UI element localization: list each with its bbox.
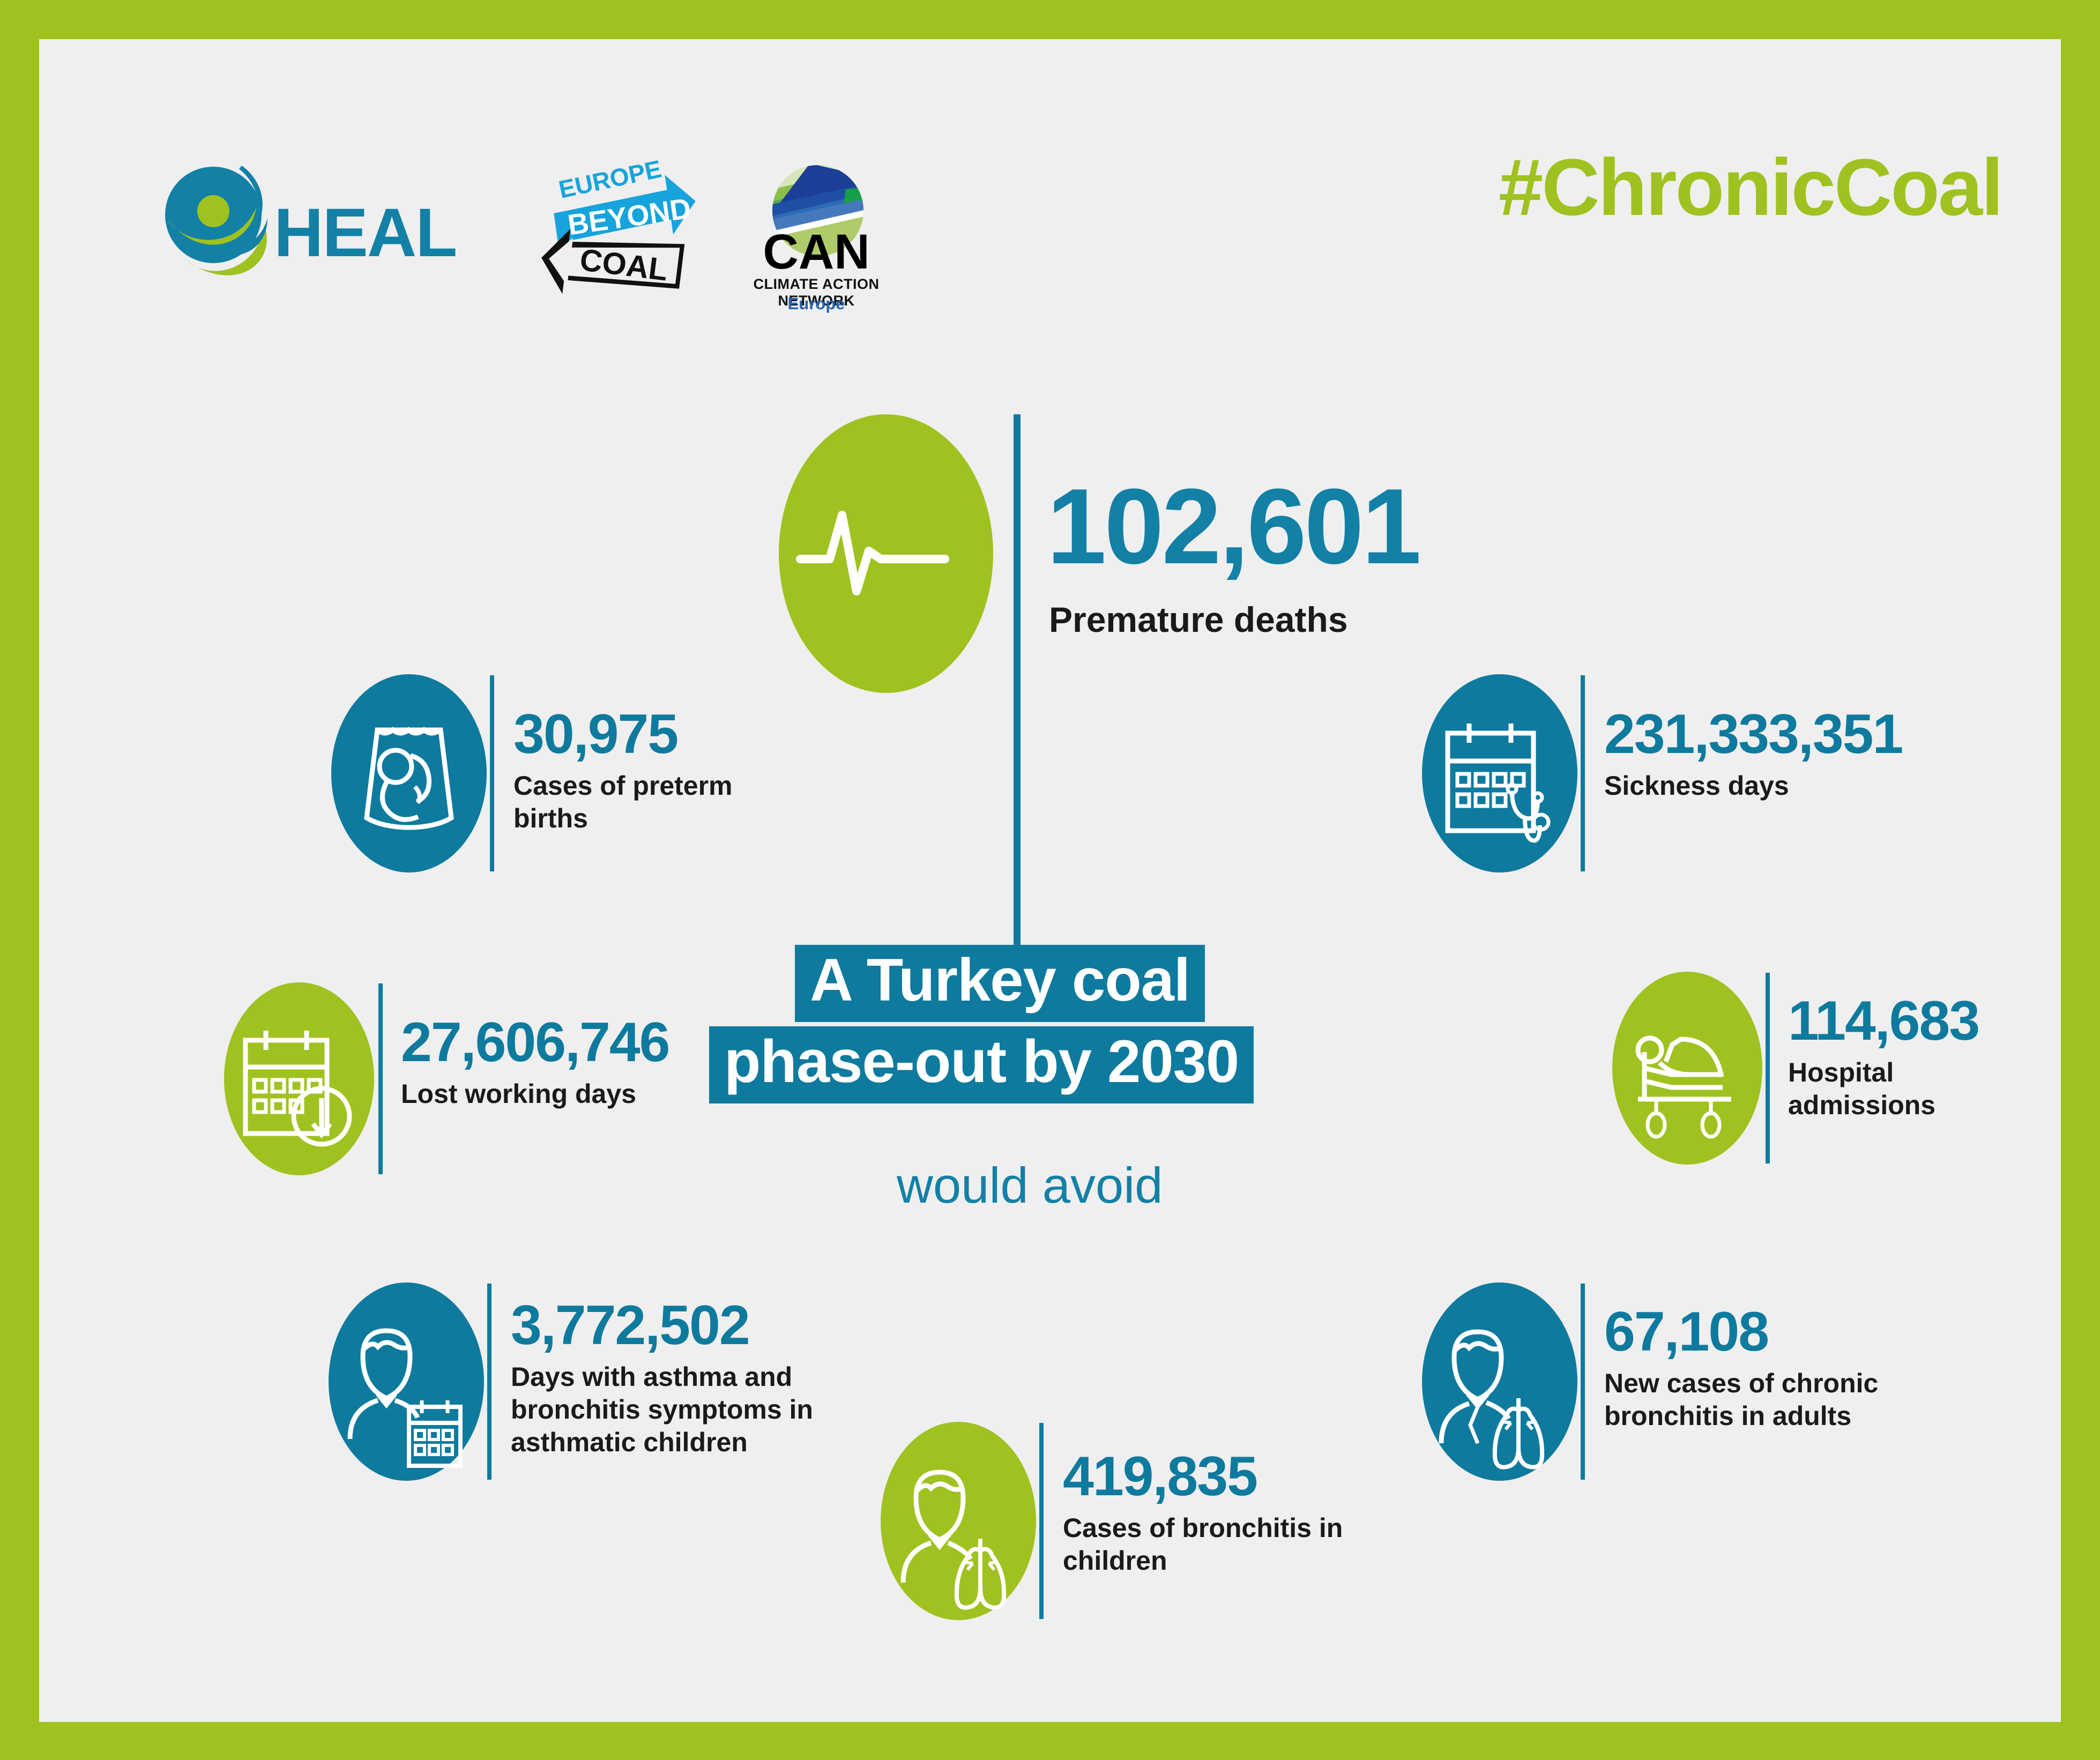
stat-label: Cases of bronchitis in children	[1063, 1512, 1363, 1577]
calendar-down-arrow-icon	[224, 982, 374, 1175]
child-calendar-icon	[329, 1282, 484, 1481]
stat-divider	[1039, 1423, 1044, 1619]
stat-divider	[1581, 675, 1585, 871]
heal-wordmark: HEAL	[274, 193, 456, 272]
stat-divider	[378, 983, 383, 1174]
heal-logo: HEAL	[136, 146, 312, 307]
stat-label: Cases of preterm births	[513, 770, 814, 835]
stat-divider	[490, 675, 494, 871]
stat-divider	[1581, 1284, 1585, 1480]
infographic-canvas: HEAL EUROPE BEYOND COAL	[39, 39, 2061, 1722]
central-spine	[1014, 414, 1021, 958]
banner-line-1: A Turkey coal	[795, 945, 1205, 1022]
hero-blob	[779, 414, 993, 693]
banner-subline: would avoid	[897, 1157, 1163, 1214]
stat-value: 114,683	[1788, 993, 2024, 1049]
stat-value: 419,835	[1063, 1449, 1363, 1504]
ultrasound-icon	[331, 674, 487, 872]
svg-text:CAN: CAN	[763, 225, 869, 279]
stat-value: 3,772,502	[511, 1297, 897, 1353]
stat-label: Days with asthma and bronchitis symptoms…	[511, 1361, 897, 1459]
child-lungs-icon	[881, 1422, 1036, 1620]
logo-row: HEAL EUROPE BEYOND COAL	[136, 146, 312, 307]
heal-mark-icon	[157, 156, 286, 290]
stat-label: Lost working days	[401, 1078, 733, 1110]
stat-blob	[1422, 1282, 1577, 1481]
can-europe-logo: CAN CLIMATE ACTION NETWORK Europe	[731, 152, 902, 312]
stat-value: 67,108	[1604, 1304, 1947, 1360]
stat-divider	[1766, 973, 1770, 1164]
stat-blob	[1422, 674, 1577, 872]
stat-divider	[487, 1284, 492, 1480]
hero-value: 102,601	[1047, 473, 1419, 580]
campaign-hashtag: #ChronicCoal	[1499, 141, 2002, 234]
stat-blob	[329, 1282, 484, 1481]
main-banner: A Turkey coal phase-out by 2030	[736, 945, 1459, 1103]
stat-blob	[1612, 972, 1762, 1165]
stat-value: 231,333,351	[1604, 706, 1969, 762]
europe-beyond-coal-logo: EUROPE BEYOND COAL	[538, 146, 704, 307]
calendar-stethoscope-icon	[1422, 674, 1577, 872]
stat-blob	[331, 674, 487, 872]
stat-label: New cases of chronic bronchitis in adult…	[1604, 1367, 1947, 1433]
banner-line-2: phase-out by 2030	[709, 1026, 1254, 1103]
stat-blob	[224, 982, 374, 1175]
europe-beyond-coal-icon: EUROPE BEYOND COAL	[538, 146, 704, 307]
hero-label: Premature deaths	[1049, 599, 1348, 640]
stat-label: Hospital admissions	[1788, 1056, 2024, 1122]
can-region: Europe	[731, 294, 902, 314]
stat-blob	[881, 1422, 1036, 1620]
adult-lungs-icon	[1422, 1282, 1577, 1481]
stat-value: 27,606,746	[401, 1015, 733, 1070]
stat-value: 30,975	[513, 706, 814, 762]
stat-label: Sickness days	[1604, 770, 1969, 802]
heartbeat-icon	[779, 414, 993, 693]
hospital-bed-icon	[1612, 972, 1762, 1165]
